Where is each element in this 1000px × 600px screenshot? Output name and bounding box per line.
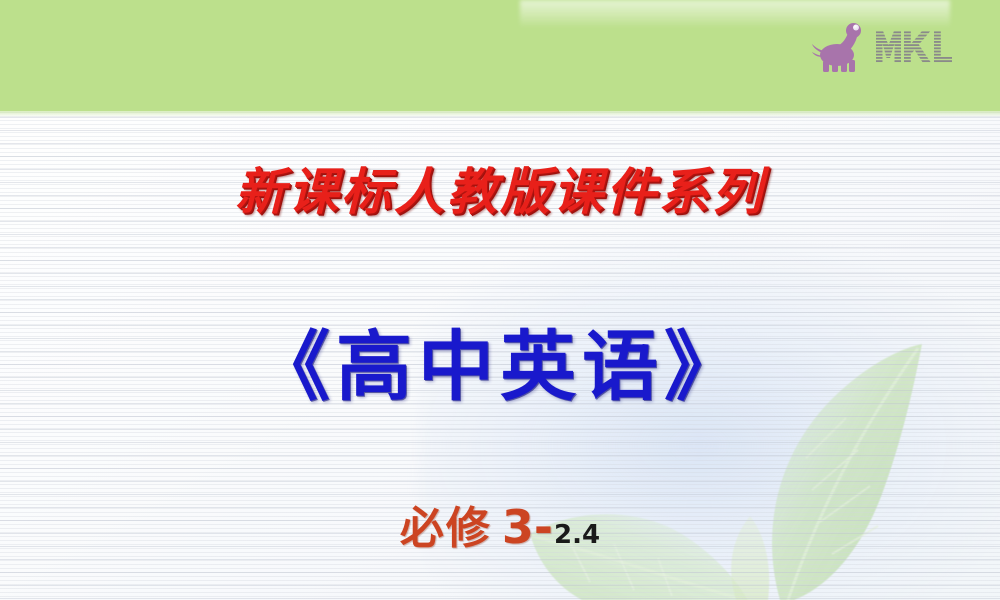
series-heading: 新课标人教版课件系列 [0, 152, 1000, 224]
subtitle-volume: 3- [502, 500, 553, 554]
mkl-wordmark-glyphs [874, 25, 952, 69]
brontosaurus-dinosaur-icon [812, 17, 872, 77]
subtitle-label: 必修 [400, 492, 492, 556]
mkl-logo [812, 14, 952, 80]
presentation-title-slide: 新课标人教版课件系列 《高中英语》 必修 3- 2.4 [0, 0, 1000, 600]
page-title: 《高中英语》 [0, 305, 1000, 415]
header-band-bottom-fade [0, 111, 1000, 117]
mkl-wordmark [874, 25, 952, 69]
subtitle-unit: 2.4 [554, 520, 600, 550]
subtitle-row: 必修 3- 2.4 [0, 492, 1000, 556]
